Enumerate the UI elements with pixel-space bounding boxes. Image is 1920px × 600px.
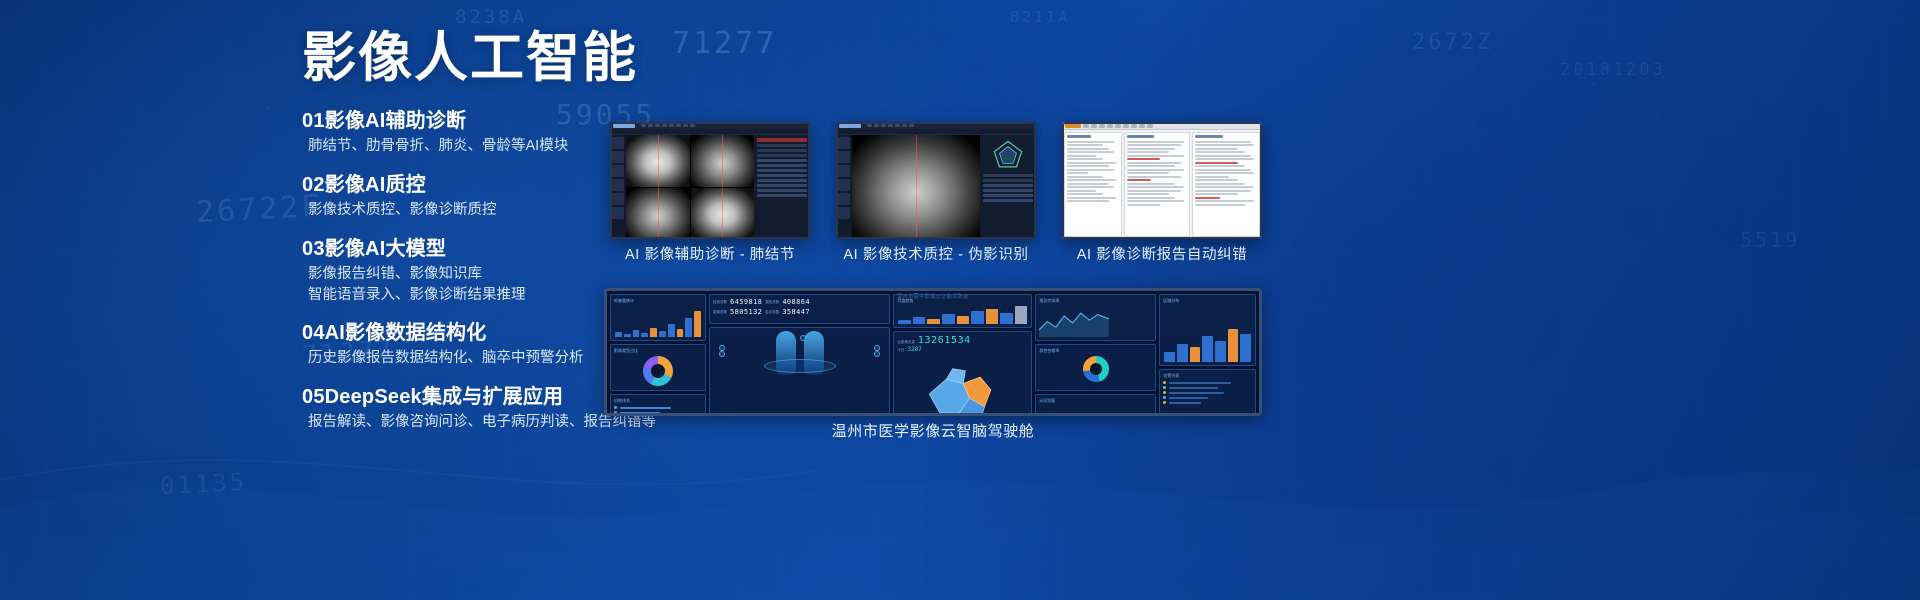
dashboard-card-table[interactable]: 机构排名: [610, 394, 706, 416]
dashboard-sub-number: 3287: [907, 346, 921, 353]
screenshot-report-correction[interactable]: [1062, 122, 1262, 239]
dashboard-card-donut[interactable]: 质控合格率: [1035, 344, 1156, 391]
pie-chart: [643, 356, 673, 386]
watermark-number: 01135: [159, 468, 248, 501]
screenshot-dashboard[interactable]: 温州市医学影像云智脑驾驶舱 检查量统计: [604, 288, 1262, 416]
region-map: [897, 353, 1028, 416]
watermark-number: 8238A: [455, 6, 527, 28]
dashboard-card-bar2[interactable]: 月度趋势: [893, 294, 1032, 328]
dashboard-caption: 温州市医学影像云智脑驾驶舱: [604, 420, 1262, 441]
watermark-number: 2672Z: [1412, 30, 1493, 55]
watermark-number: 8211A: [1010, 8, 1070, 26]
banner-root: 8238A 71277 59055 26722F 71277 2672Z 201…: [0, 0, 1920, 600]
dashboard-big-number: 13261534: [918, 335, 971, 346]
kpi-label: 报告总数: [765, 300, 779, 305]
kpi-value: 5805132: [730, 308, 762, 316]
kpi-value: 358447: [782, 308, 810, 316]
dashboard-card-list[interactable]: 告警列表: [1159, 369, 1256, 416]
line-chart: [1039, 309, 1109, 337]
dashboard-card-pie[interactable]: 影像类型占比: [610, 344, 706, 391]
screenshot-caption: AI 影像技术质控 - 伪影识别: [836, 243, 1036, 264]
kpi-value: 6459818: [730, 298, 762, 306]
feature-subtitle: 影像报告纠错、影像知识库: [302, 264, 702, 286]
dashboard-map-panel[interactable]: 云影像总量 13261534 今日 3287: [893, 331, 1032, 416]
dashboard-card-bar[interactable]: 检查量统计: [610, 294, 706, 341]
screenshot-ai-qc[interactable]: [836, 122, 1036, 239]
dashboard-card-line[interactable]: 报告完成率: [1035, 294, 1156, 341]
donut-chart: [1083, 356, 1109, 382]
dashboard-human-visual[interactable]: [709, 327, 890, 416]
kpi-label: 会诊总数: [765, 310, 779, 315]
watermark-number: 5519: [1740, 228, 1800, 252]
screenshot-caption: AI 影像诊断报告自动纠错: [1062, 243, 1262, 264]
dashboard-card-bar3[interactable]: AI识别量: [1035, 394, 1156, 416]
kpi-label: 检查总数: [713, 300, 727, 305]
kpi-value: 408864: [782, 298, 810, 306]
kpi-label: 影像总数: [713, 310, 727, 315]
screenshot-caption: AI 影像辅助诊断 - 肺结节: [610, 243, 810, 264]
watermark-number: 20181203: [1560, 60, 1666, 80]
dashboard-card-bar4[interactable]: 区域分布: [1159, 294, 1256, 366]
page-title: 影像人工智能: [302, 28, 702, 88]
dashboard-kpi-panel: 检查总数 6459818 报告总数 408864 影像总数 5805132 会诊…: [709, 294, 890, 324]
screenshot-ai-diagnosis[interactable]: [610, 122, 810, 239]
